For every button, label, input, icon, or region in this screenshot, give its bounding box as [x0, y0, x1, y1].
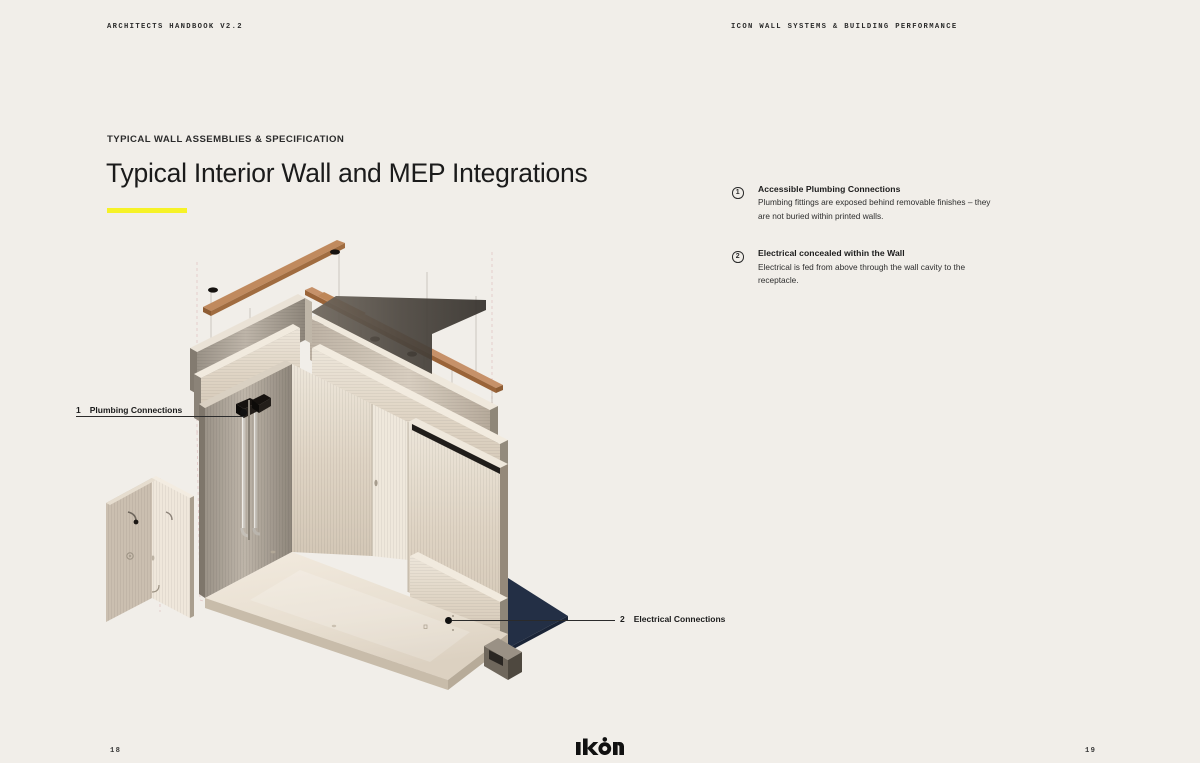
note-body: Plumbing fittings are exposed behind rem…	[758, 196, 1002, 223]
callout-electrical-number: 2	[620, 614, 625, 624]
callout-electrical-leader	[452, 620, 615, 621]
note-number-badge: 2	[732, 251, 744, 263]
navy-floor-wedge	[508, 578, 568, 652]
callout-plumbing-target-dot	[240, 409, 247, 416]
note-item: 1 Accessible Plumbing Connections Plumbi…	[732, 183, 1002, 223]
callout-plumbing-number: 1	[76, 405, 81, 415]
callout-electrical-label: Electrical Connections	[634, 614, 726, 624]
removable-finish-panel	[106, 476, 194, 622]
brand-logo	[0, 737, 1200, 757]
isometric-assembly-drawing	[0, 0, 1200, 763]
callout-plumbing-label: Plumbing Connections	[90, 405, 183, 415]
note-item: 2 Electrical concealed within the Wall E…	[732, 247, 1002, 287]
notes-list: 1 Accessible Plumbing Connections Plumbi…	[732, 183, 1002, 312]
icon-wordmark-logo	[576, 737, 624, 757]
note-body: Electrical is fed from above through the…	[758, 261, 1002, 288]
note-number-badge: 1	[732, 187, 744, 199]
callout-plumbing-leader	[76, 416, 244, 417]
document-page: ARCHITECTS HANDBOOK V2.2 ICON WALL SYSTE…	[0, 0, 1200, 763]
callout-electrical-target-dot	[445, 617, 452, 624]
note-title: Accessible Plumbing Connections	[758, 183, 1002, 195]
note-title: Electrical concealed within the Wall	[758, 247, 1002, 259]
